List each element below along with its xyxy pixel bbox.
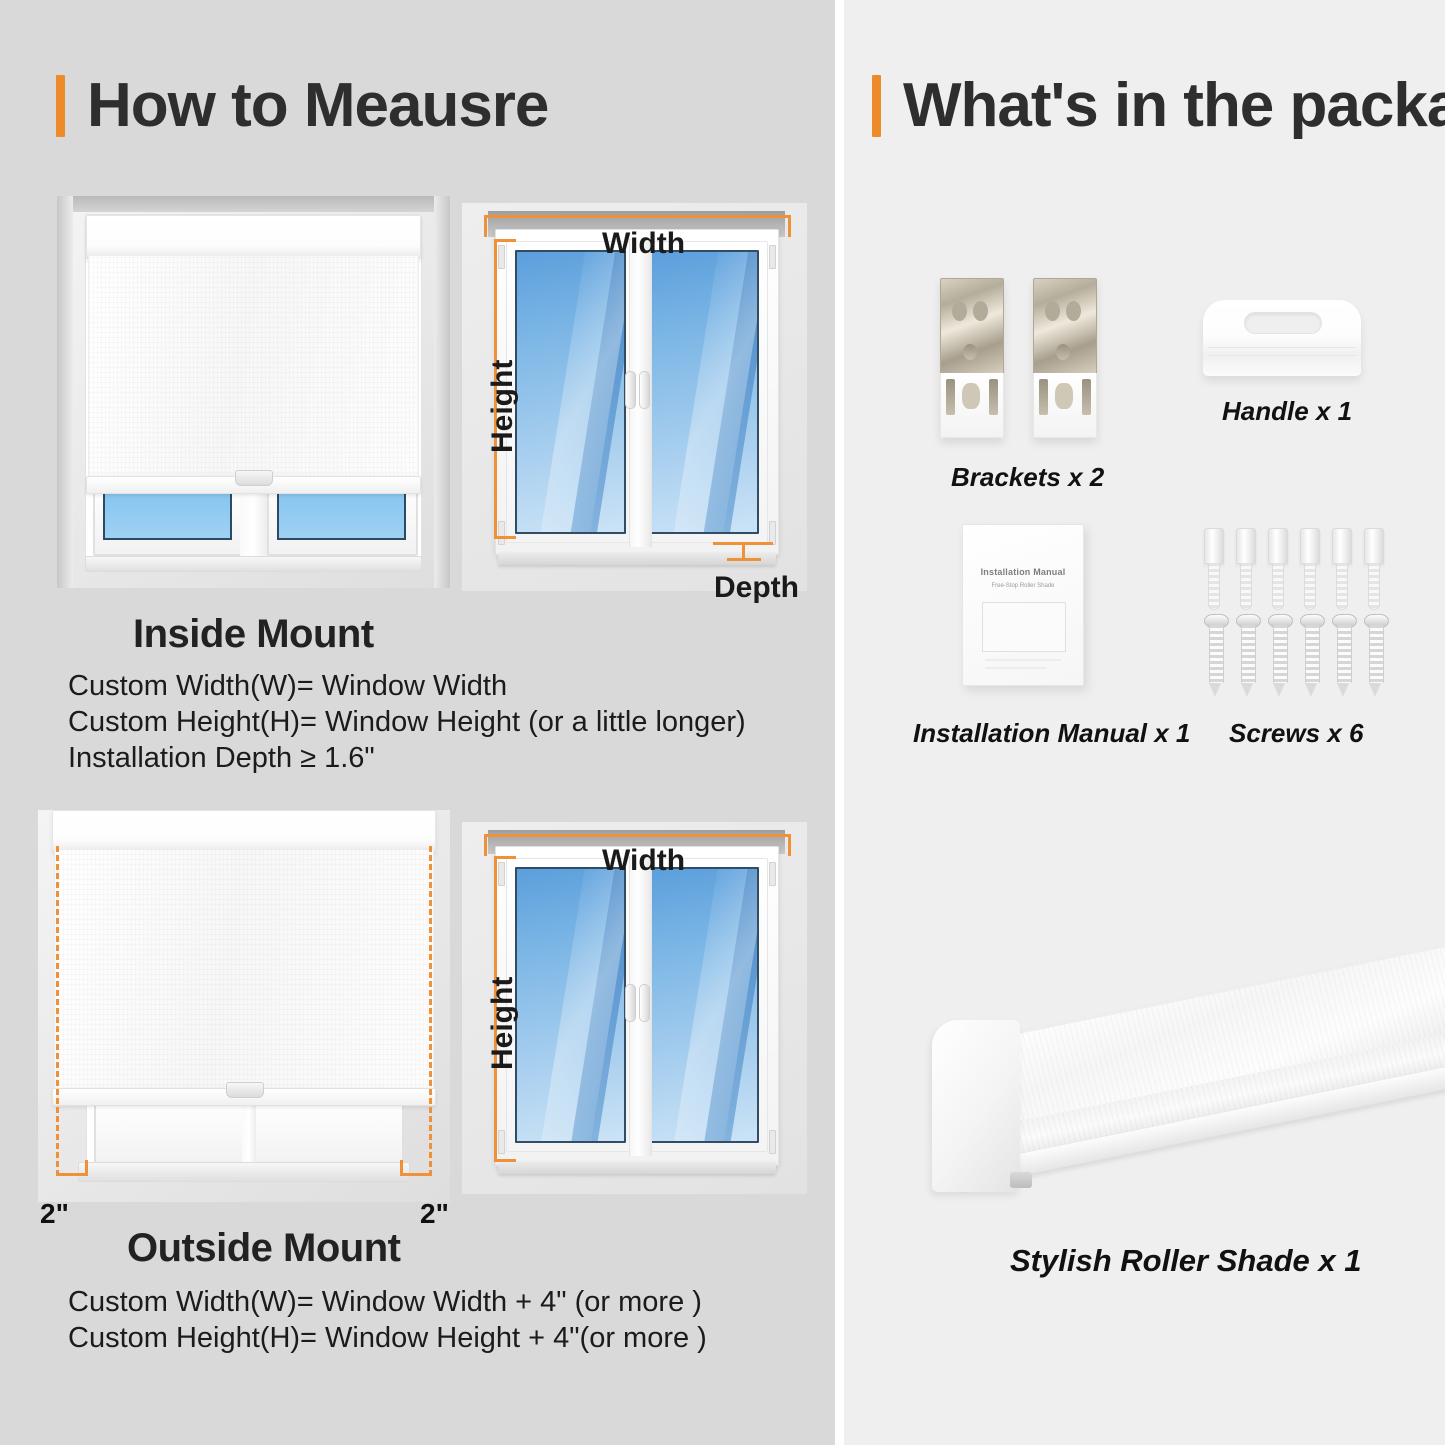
glass-highlight — [698, 867, 759, 1143]
roller-shade-end-pin — [1010, 1172, 1032, 1188]
overhang-dimension-left — [56, 1173, 88, 1176]
screw-shaft — [1241, 625, 1256, 683]
outside-spec-width: Custom Width(W)= Window Width + 4" (or m… — [68, 1286, 702, 1319]
bracket-hole — [1045, 301, 1060, 321]
screws-label: Screws x 6 — [1229, 718, 1363, 749]
screw-point — [1209, 683, 1221, 697]
left-heading-text: How to Meausre — [87, 70, 548, 141]
overhang-label-right: 2" — [420, 1198, 449, 1230]
handle-icon — [1203, 300, 1361, 376]
overhang-cap-left — [85, 1160, 88, 1176]
bracket-clip — [1082, 379, 1091, 415]
wall-anchor-icon — [1364, 528, 1384, 564]
window-glass-left — [103, 488, 232, 540]
right-heading-text: What's in the package — [903, 70, 1445, 141]
bracket-base — [1033, 373, 1097, 438]
outside-mount-title: Outside Mount — [127, 1226, 400, 1271]
bracket-metal-body — [1033, 278, 1097, 379]
bracket-keyhole — [1055, 383, 1073, 409]
screw-shaft — [1209, 625, 1224, 683]
window-hinge — [498, 521, 505, 545]
bracket-slot — [963, 344, 977, 360]
window-glass-right — [648, 250, 759, 534]
window-mullion — [242, 1100, 256, 1166]
screw-point — [1305, 683, 1317, 697]
anchor-tip — [1208, 563, 1221, 610]
inside-spec-width: Custom Width(W)= Window Width — [68, 670, 507, 703]
window-sill — [85, 556, 422, 572]
depth-label: Depth — [714, 571, 799, 605]
manual-cover-figure — [982, 602, 1066, 652]
overhang-guide-left — [56, 846, 59, 1176]
anchor-tip — [1368, 563, 1381, 610]
handle-grip-slot — [1244, 312, 1322, 334]
anchor-tip — [1240, 563, 1253, 610]
width-label: Width — [602, 844, 685, 878]
glass-highlight — [565, 250, 626, 534]
glass-highlight — [698, 250, 759, 534]
bracket-keyhole — [962, 383, 980, 409]
outside-mount-dimension-diagram: Width Height — [462, 822, 807, 1194]
accent-bar-icon — [872, 75, 881, 137]
window-hinge — [498, 862, 505, 886]
overhang-cap-right — [400, 1160, 403, 1176]
depth-dimension-foot — [727, 558, 761, 561]
wall-anchor-icon — [1300, 528, 1320, 564]
height-dimension-cap-top — [494, 856, 516, 859]
height-dimension-cap-bottom — [494, 1159, 516, 1162]
bracket-slot — [1056, 344, 1070, 360]
screw-point — [1369, 683, 1381, 697]
height-label: Height — [486, 360, 520, 453]
window-handle-right — [639, 984, 650, 1022]
shade-cassette — [52, 810, 436, 853]
inside-mount-title: Inside Mount — [133, 612, 374, 657]
shade-cassette — [86, 215, 421, 259]
inside-spec-depth: Installation Depth ≥ 1.6" — [68, 742, 375, 775]
window-reveal-top — [57, 196, 450, 212]
overhang-dimension-right — [400, 1173, 432, 1176]
screw-point — [1273, 683, 1285, 697]
window-hinge — [498, 1130, 505, 1154]
window-sill — [498, 1161, 776, 1174]
window-hinge — [769, 1130, 776, 1154]
accent-bar-icon — [56, 75, 65, 137]
inside-mount-dimension-diagram: Width Height Depth — [462, 203, 807, 591]
width-dimension-cap-right — [788, 834, 791, 856]
bracket-clip — [946, 379, 955, 415]
width-dimension-cap-right — [788, 215, 791, 237]
window-handle-left — [625, 371, 636, 409]
wall-anchor-icon — [1332, 528, 1352, 564]
window-handle-right — [639, 371, 650, 409]
outside-mount-illustration — [38, 810, 450, 1202]
window-reveal-right — [434, 196, 450, 588]
roller-shade-label: Stylish Roller Shade x 1 — [1010, 1243, 1361, 1279]
height-dimension-cap-bottom — [494, 536, 516, 539]
bracket-metal-body — [940, 278, 1004, 379]
window-hinge — [498, 245, 505, 269]
window-hinge — [769, 245, 776, 269]
window-glass-left — [515, 250, 626, 534]
window-glass-left — [515, 867, 626, 1143]
wall-anchor-icon — [1268, 528, 1288, 564]
manual-icon: Installation Manual Free-Stop Roller Sha… — [962, 524, 1084, 686]
whats-in-package-heading: What's in the package — [872, 70, 1445, 141]
window-handle-left — [625, 984, 636, 1022]
overhang-guide-right — [429, 846, 432, 1176]
infographic-page: How to Meausre What's in the package — [0, 0, 1445, 1445]
manual-label: Installation Manual x 1 — [913, 718, 1190, 749]
handle-ridge — [1208, 347, 1357, 348]
handle-ridge — [1208, 355, 1357, 356]
screw-point — [1241, 683, 1253, 697]
manual-cover-line — [985, 667, 1047, 669]
roller-shade-end-cap — [932, 1020, 1020, 1192]
how-to-measure-heading: How to Meausre — [56, 70, 548, 141]
bracket-icon — [940, 278, 1004, 438]
width-dimension-line — [484, 215, 791, 218]
width-label: Width — [602, 227, 685, 261]
screw-shaft — [1273, 625, 1288, 683]
window-sill — [78, 1162, 410, 1182]
screw-point — [1337, 683, 1349, 697]
shade-fabric — [88, 256, 419, 478]
wall-anchor-icon — [1236, 528, 1256, 564]
screw-group — [1209, 614, 1389, 700]
window-sash-right — [250, 1100, 404, 1166]
overhang-label-left: 2" — [40, 1198, 69, 1230]
glass-highlight — [565, 867, 626, 1143]
bracket-base — [940, 373, 1004, 438]
brackets-label: Brackets x 2 — [951, 462, 1104, 493]
wall-anchor-icon — [1204, 528, 1224, 564]
screw-shaft — [1369, 625, 1384, 683]
bracket-hole — [973, 301, 988, 321]
bracket-hole — [952, 301, 967, 321]
bracket-icon — [1033, 278, 1097, 438]
anchor-tip — [1272, 563, 1285, 610]
height-dimension-cap-top — [494, 239, 516, 242]
inside-mount-illustration — [57, 196, 450, 588]
bracket-clip — [989, 379, 998, 415]
shade-pull-handle — [226, 1082, 264, 1098]
width-dimension-line — [484, 834, 791, 837]
manual-cover-line — [985, 659, 1062, 661]
wall-anchor-group — [1204, 528, 1384, 568]
screw-shaft — [1305, 625, 1320, 683]
window-glass-right — [277, 488, 406, 540]
width-dimension-cap-left — [484, 834, 487, 856]
screw-shaft — [1337, 625, 1352, 683]
bracket-clip — [1039, 379, 1048, 415]
bracket-hole — [1066, 301, 1081, 321]
window-glass-right — [648, 867, 759, 1143]
shade-fabric — [54, 850, 434, 1090]
outside-spec-height: Custom Height(H)= Window Height + 4"(or … — [68, 1322, 707, 1355]
window-hinge — [769, 862, 776, 886]
manual-cover-title: Installation Manual — [977, 567, 1068, 577]
window-sash-left — [94, 1100, 248, 1166]
anchor-tip — [1336, 563, 1349, 610]
shade-pull-handle — [235, 470, 273, 486]
manual-cover-subtitle: Free-Stop Roller Shade — [980, 583, 1066, 589]
inside-spec-height: Custom Height(H)= Window Height (or a li… — [68, 706, 746, 739]
roller-shade-icon — [900, 880, 1445, 1210]
window-reveal-left — [57, 196, 73, 588]
panel-divider — [835, 0, 844, 1445]
width-dimension-cap-left — [484, 215, 487, 237]
anchor-tip — [1304, 563, 1317, 610]
height-label: Height — [486, 977, 520, 1070]
handle-label: Handle x 1 — [1222, 396, 1352, 427]
